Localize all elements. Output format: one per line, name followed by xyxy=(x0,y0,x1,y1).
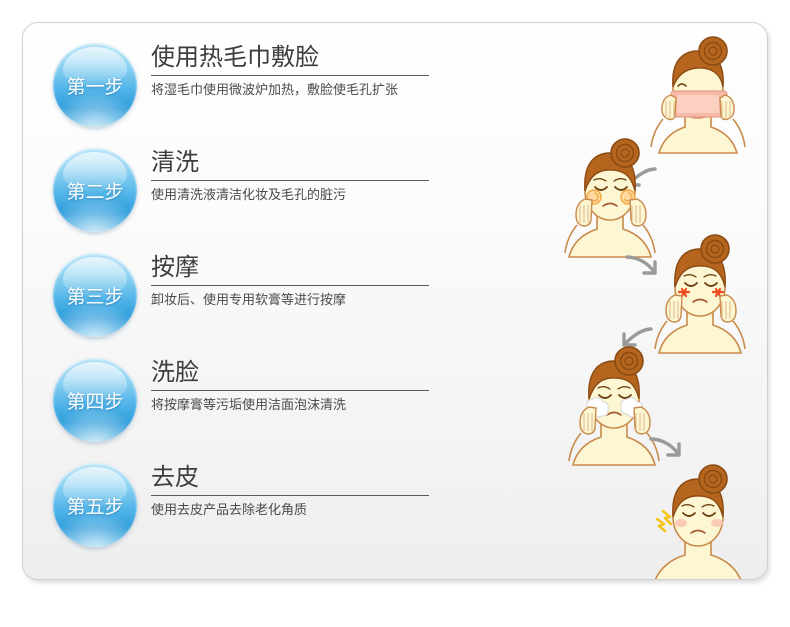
step-badge-4: 第四步 xyxy=(53,358,137,442)
step-row-4: 第四步 洗脸 将按摩膏等污垢使用洁面泡沫清洗 xyxy=(53,346,453,451)
step-row-5: 第五步 去皮 使用去皮产品去除老化角质 xyxy=(53,451,453,556)
step-divider-4 xyxy=(151,390,429,391)
step-desc-1: 将湿毛巾使用微波炉加热，敷脸使毛孔扩张 xyxy=(151,81,441,101)
step-row-1: 第一步 使用热毛巾敷脸 将湿毛巾使用微波炉加热，敷脸使毛孔扩张 xyxy=(53,31,453,136)
step-badge-label-3: 第三步 xyxy=(66,282,123,309)
step-badge-label-2: 第二步 xyxy=(66,177,123,204)
step-divider-1 xyxy=(151,75,429,76)
step-text-1: 使用热毛巾敷脸 将湿毛巾使用微波炉加热，敷脸使毛孔扩张 xyxy=(151,41,441,101)
step-row-3: 第三步 按摩 卸妆后、使用专用软膏等进行按摩 xyxy=(53,241,453,346)
step-badge-label-4: 第四步 xyxy=(66,387,123,414)
step-badge-label-1: 第一步 xyxy=(66,72,123,99)
step-title-4: 洗脸 xyxy=(151,356,441,388)
step-row-2: 第二步 清洗 使用清洗液清洁化妆及毛孔的脏污 xyxy=(53,136,453,241)
step-text-2: 清洗 使用清洗液清洁化妆及毛孔的脏污 xyxy=(151,146,441,206)
step-badge-1: 第一步 xyxy=(53,43,137,127)
step-desc-5: 使用去皮产品去除老化角质 xyxy=(151,501,441,521)
step-text-3: 按摩 卸妆后、使用专用软膏等进行按摩 xyxy=(151,251,441,311)
step-badge-3: 第三步 xyxy=(53,253,137,337)
steps-list: 第一步 使用热毛巾敷脸 将湿毛巾使用微波炉加热，敷脸使毛孔扩张 第二步 清洗 使… xyxy=(53,31,453,556)
step-title-3: 按摩 xyxy=(151,251,441,283)
step-desc-3: 卸妆后、使用专用软膏等进行按摩 xyxy=(151,291,441,311)
skincare-steps-infographic: 第一步 使用热毛巾敷脸 将湿毛巾使用微波炉加热，敷脸使毛孔扩张 第二步 清洗 使… xyxy=(0,0,790,627)
step-title-5: 去皮 xyxy=(151,461,441,493)
step-text-4: 洗脸 将按摩膏等污垢使用洁面泡沫清洗 xyxy=(151,356,441,416)
step-divider-2 xyxy=(151,180,429,181)
illustration-column xyxy=(493,23,768,580)
step-badge-2: 第二步 xyxy=(53,148,137,232)
step-text-5: 去皮 使用去皮产品去除老化角质 xyxy=(151,461,441,521)
step-divider-5 xyxy=(151,495,429,496)
illustration-woman-peeling-skin xyxy=(633,459,763,580)
step-badge-5: 第五步 xyxy=(53,463,137,547)
step-divider-3 xyxy=(151,285,429,286)
step-title-1: 使用热毛巾敷脸 xyxy=(151,41,441,73)
step-title-2: 清洗 xyxy=(151,146,441,178)
step-desc-2: 使用清洗液清洁化妆及毛孔的脏污 xyxy=(151,186,441,206)
step-desc-4: 将按摩膏等污垢使用洁面泡沫清洗 xyxy=(151,396,441,416)
infographic-card: 第一步 使用热毛巾敷脸 将湿毛巾使用微波炉加热，敷脸使毛孔扩张 第二步 清洗 使… xyxy=(22,22,768,580)
step-badge-label-5: 第五步 xyxy=(66,492,123,519)
